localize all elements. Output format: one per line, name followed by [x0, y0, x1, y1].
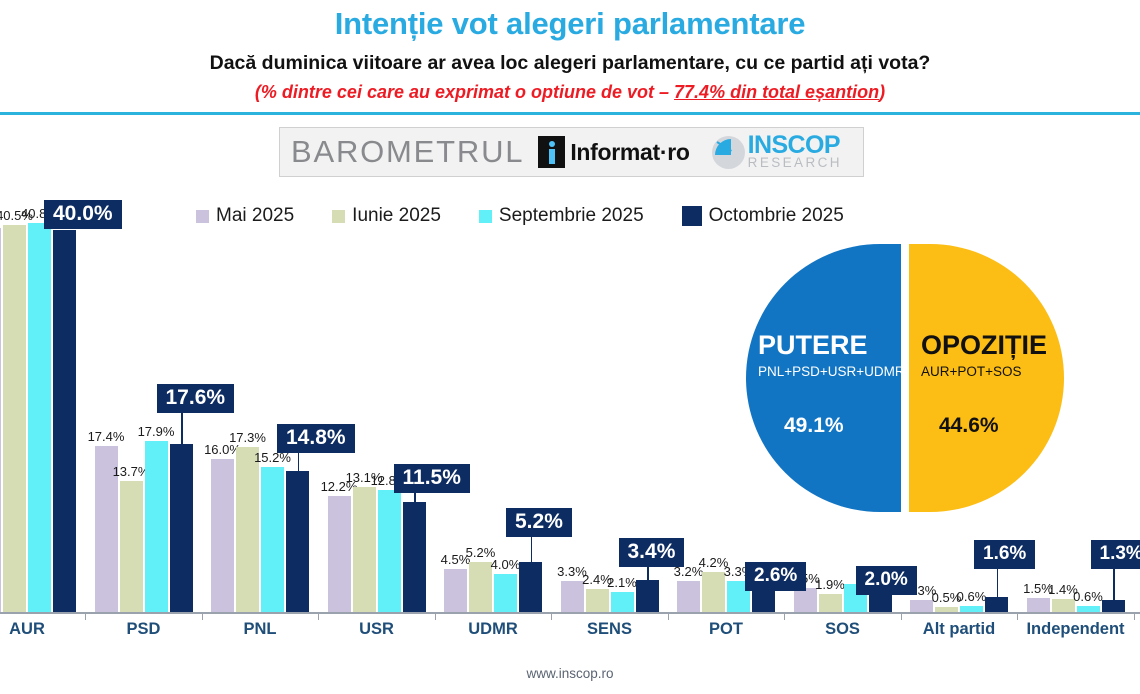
bar-sens-octombrie[interactable]: 3.4% — [636, 580, 659, 612]
x-label-psd: PSD — [79, 620, 209, 639]
x-axis-tick — [318, 613, 319, 620]
bar-udmr-mai[interactable]: 4.5% — [444, 569, 467, 612]
pie-slice-opozitie-label: OPOZIȚIE — [921, 330, 1047, 361]
logo-bar: BAROMETRUL Informat·ro INSCOP RESEARCH — [279, 127, 864, 177]
callout-leader-line — [181, 412, 183, 444]
page-title: Intenție vot alegeri parlamentare — [0, 4, 1140, 44]
bar-value-label: 2.1% — [607, 575, 637, 590]
x-axis-tick — [1134, 613, 1135, 620]
bar-group-bars: %40.5%40.8%40.0% — [0, 192, 76, 612]
bar-alt-partid-iunie[interactable]: 0.5% — [935, 607, 958, 612]
bar-sos-iunie[interactable]: 1.9% — [819, 594, 842, 612]
bar-udmr-septembrie[interactable]: 4.0% — [494, 574, 517, 612]
bar-usr-octombrie[interactable]: 11.5% — [403, 502, 426, 612]
barometrul-wordmark: BAROMETRUL — [291, 134, 524, 170]
bar-aur-octombrie[interactable]: 40.0% — [53, 230, 76, 612]
bar-independent-septembrie[interactable]: 0.6% — [1077, 606, 1100, 612]
bar-alt-partid-mai[interactable]: 1.3% — [910, 600, 933, 612]
bar-value-label: 17.4% — [88, 429, 125, 444]
header-divider — [0, 112, 1140, 115]
callout-usr: 11.5% — [394, 464, 470, 493]
bar-pot-mai[interactable]: 3.2% — [677, 581, 700, 612]
bar-value-label: 17.9% — [138, 424, 175, 439]
bar-udmr-iunie[interactable]: 5.2% — [469, 562, 492, 612]
chart-subtitle: Dacă duminica viitoare ar avea loc alege… — [0, 50, 1140, 76]
callout-pnl: 14.8% — [277, 424, 355, 453]
bar-value-label: 1.9% — [815, 577, 845, 592]
x-label-udmr: UDMR — [428, 620, 558, 639]
note-emphasis: 77.4% din total eșantion — [674, 82, 879, 102]
inscop-tagline: RESEARCH — [748, 157, 842, 169]
x-axis-tick — [435, 613, 436, 620]
pie-slice-putere-label: PUTERE — [758, 330, 868, 361]
pie-slice-opozitie-value: 44.6% — [939, 414, 999, 438]
x-label-sos: SOS — [778, 620, 908, 639]
bar-group-udmr: 4.5%5.2%4.0%5.2% — [444, 192, 542, 612]
inscop-research-logo: INSCOP RESEARCH — [712, 134, 842, 169]
callout-leader-line — [298, 452, 300, 471]
x-axis-tick — [1017, 613, 1018, 620]
informat-person-icon — [538, 136, 565, 168]
pie-slice-putere: PUTERE PNL+PSD+USR+UDMR 49.1% — [746, 244, 901, 512]
informat-wordmark: Informat·ro — [570, 139, 689, 166]
x-axis-tick — [668, 613, 669, 620]
x-axis-tick — [202, 613, 203, 620]
informat-ro-logo: Informat·ro — [538, 136, 689, 168]
x-label-alt-partid: Alt partid — [894, 620, 1024, 639]
bar-pnl-septembrie[interactable]: 15.2% — [261, 467, 284, 612]
callout-leader-line — [414, 492, 416, 502]
callout-aur: 40.0% — [44, 200, 122, 229]
x-label-independent: Independent — [1011, 620, 1140, 639]
pie-slice-opozitie: OPOZIȚIE AUR+POT+SOS 44.6% — [909, 244, 1064, 512]
bar-value-label: 0.6% — [1073, 589, 1103, 604]
putere-opozitie-pie-chart: PUTERE PNL+PSD+USR+UDMR 49.1% OPOZIȚIE A… — [746, 244, 1064, 512]
pie-slice-putere-composition: PNL+PSD+USR+UDMR — [758, 364, 898, 380]
bar-udmr-octombrie[interactable]: 5.2% — [519, 562, 542, 612]
x-axis-tick — [784, 613, 785, 620]
bar-psd-septembrie[interactable]: 17.9% — [145, 441, 168, 612]
bar-pnl-mai[interactable]: 16.0% — [211, 459, 234, 612]
footer-url: www.inscop.ro — [0, 666, 1140, 681]
callout-udmr: 5.2% — [506, 508, 572, 537]
bar-pot-iunie[interactable]: 4.2% — [702, 572, 725, 612]
bar-sens-septembrie[interactable]: 2.1% — [611, 592, 634, 612]
x-label-usr: USR — [312, 620, 442, 639]
pie-slice-opozitie-composition: AUR+POT+SOS — [921, 364, 1071, 380]
bar-sens-mai[interactable]: 3.3% — [561, 581, 584, 613]
inscop-wordmark: INSCOP RESEARCH — [748, 134, 842, 169]
bar-independent-mai[interactable]: 1.5% — [1027, 598, 1050, 612]
inscop-circle-icon — [712, 136, 745, 169]
bar-independent-octombrie[interactable]: 1.3% — [1102, 600, 1125, 612]
x-axis-tick — [551, 613, 552, 620]
callout-psd: 17.6% — [157, 384, 235, 413]
note-prefix: (% dintre cei care au exprimat o optiune… — [255, 82, 674, 102]
bar-psd-octombrie[interactable]: 17.6% — [170, 444, 193, 612]
bar-group-bars: 12.2%13.1%12.8%11.5% — [328, 192, 426, 612]
bar-group-usr: 12.2%13.1%12.8%11.5% — [328, 192, 426, 612]
bar-sos-octombrie[interactable]: 2.0% — [869, 593, 892, 612]
callout-leader-line — [531, 536, 533, 562]
note-suffix: ) — [879, 82, 885, 102]
chart-header: Intenție vot alegeri parlamentare Dacă d… — [0, 0, 1140, 114]
bar-alt-partid-octombrie[interactable]: 1.6% — [985, 597, 1008, 612]
bar-pnl-octombrie[interactable]: 14.8% — [286, 471, 309, 612]
bar-group-bars: 4.5%5.2%4.0%5.2% — [444, 192, 542, 612]
bar-alt-partid-septembrie[interactable]: 0.6% — [960, 606, 983, 612]
inscop-name: INSCOP — [748, 134, 842, 157]
x-label-pnl: PNL — [195, 620, 325, 639]
bar-aur-mai[interactable]: % — [0, 228, 1, 612]
chart-note: (% dintre cei care au exprimat o optiune… — [0, 80, 1140, 104]
x-axis-labels: AURPSDPNLUSRUDMRSENSPOTSOSAlt partidInde… — [0, 620, 1140, 650]
bar-value-label: 4.0% — [491, 557, 521, 572]
bar-sos-mai[interactable]: 2.5% — [794, 588, 817, 612]
bar-group-aur: %40.5%40.8%40.0% — [0, 192, 76, 612]
x-axis-tick — [901, 613, 902, 620]
callout-leader-line — [647, 566, 649, 580]
bar-value-label: 0.6% — [957, 589, 987, 604]
x-label-pot: POT — [661, 620, 791, 639]
callout-leader-line — [1113, 568, 1115, 600]
callout-pot: 2.6% — [745, 562, 806, 591]
x-axis-tick — [85, 613, 86, 620]
bar-independent-iunie[interactable]: 1.4% — [1052, 599, 1075, 612]
callout-alt-partid: 1.6% — [974, 540, 1035, 569]
bar-pnl-iunie[interactable]: 17.3% — [236, 447, 259, 612]
callout-leader-line — [997, 568, 999, 597]
callout-sens: 3.4% — [619, 538, 685, 567]
pie-slice-putere-value: 49.1% — [784, 414, 844, 438]
bar-value-label: 17.3% — [229, 430, 266, 445]
bar-usr-mai[interactable]: 12.2% — [328, 496, 351, 612]
bar-usr-septembrie[interactable]: 12.8% — [378, 490, 401, 612]
bar-aur-iunie[interactable]: 40.5% — [3, 225, 26, 612]
callout-sos: 2.0% — [856, 566, 917, 595]
callout-independent: 1.3% — [1091, 540, 1140, 569]
bar-psd-iunie[interactable]: 13.7% — [120, 481, 143, 612]
bar-aur-septembrie[interactable]: 40.8% — [28, 223, 51, 612]
bar-usr-iunie[interactable]: 13.1% — [353, 487, 376, 612]
x-axis-line — [0, 612, 1140, 614]
bar-sens-iunie[interactable]: 2.4% — [586, 589, 609, 612]
x-label-sens: SENS — [545, 620, 675, 639]
